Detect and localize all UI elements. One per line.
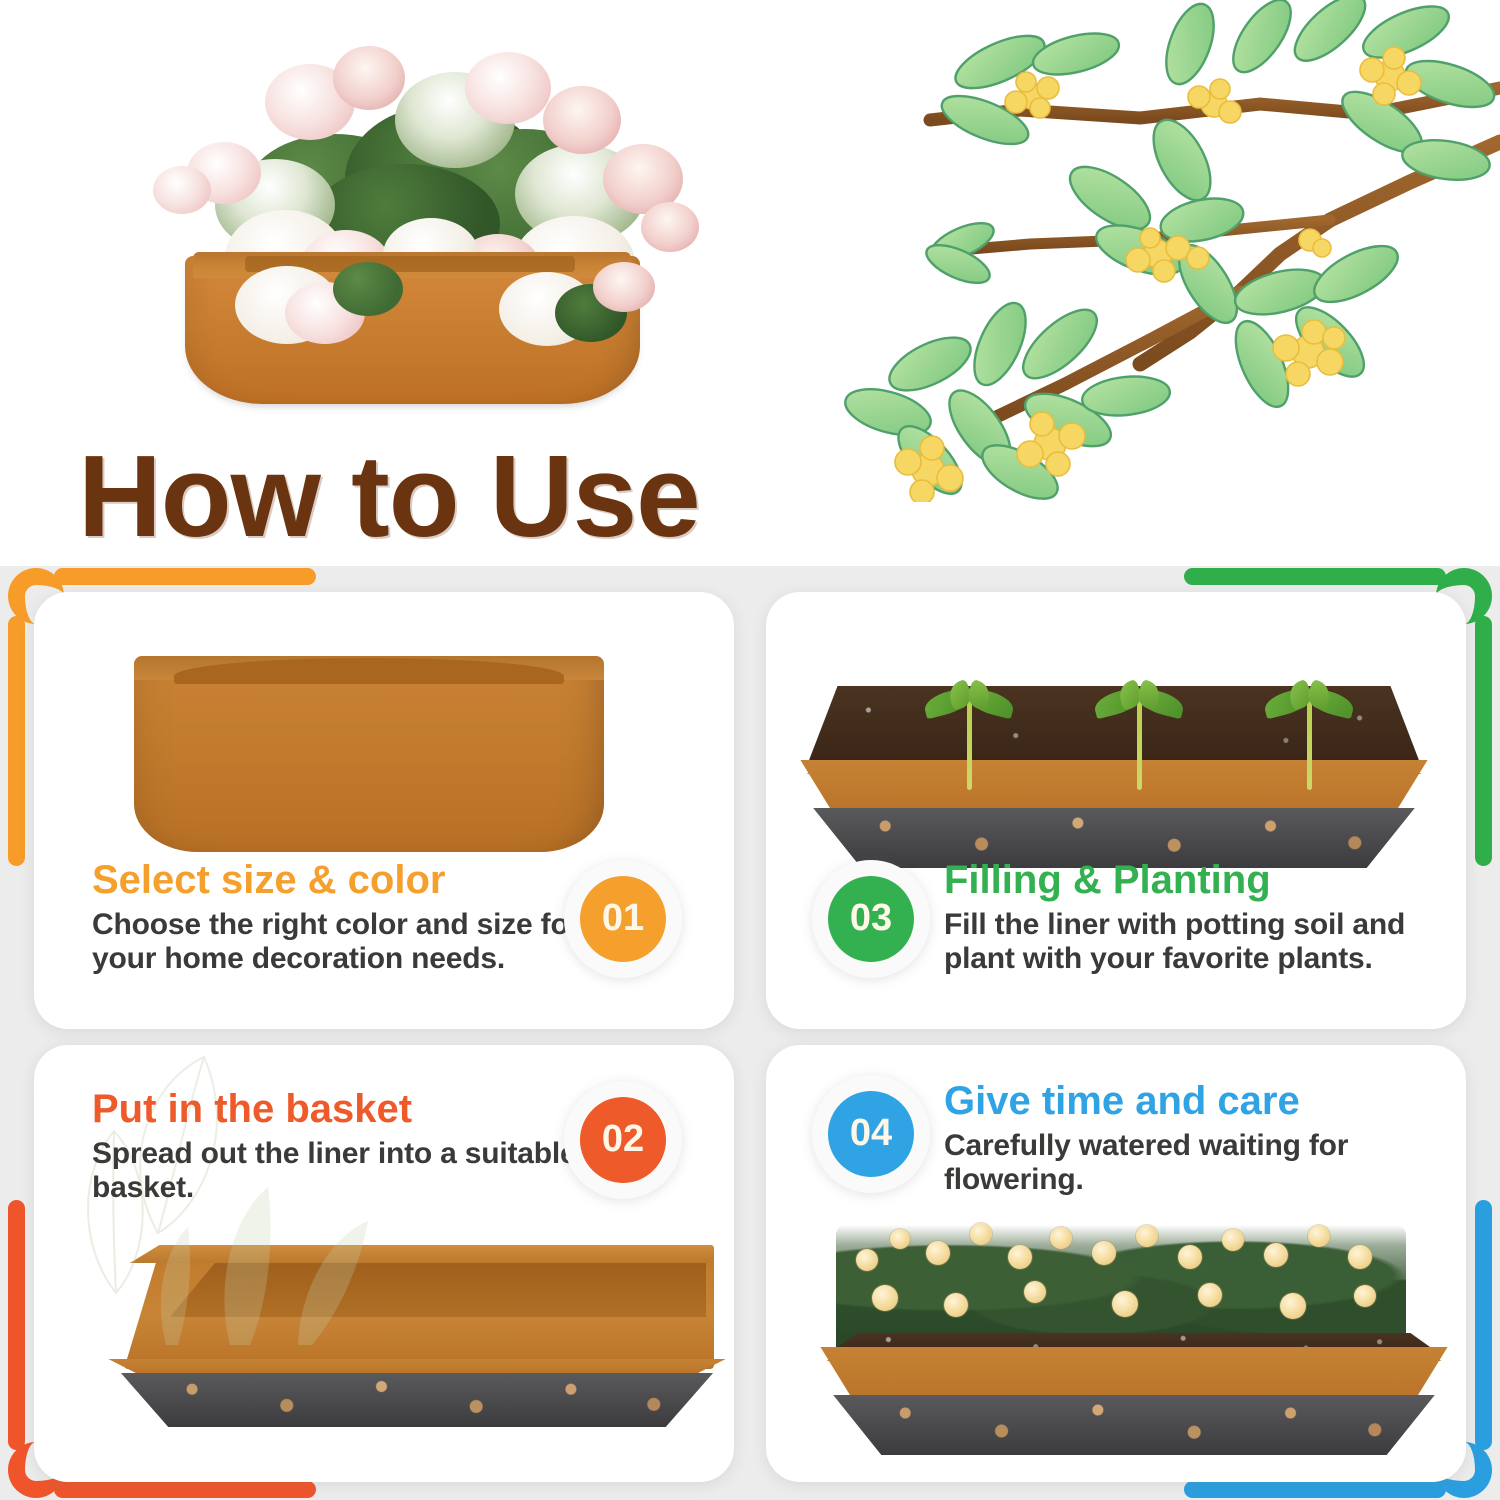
step-04-heading: Give time and care [944, 1081, 1444, 1123]
steps-grid: Select size & color Choose the right col… [0, 566, 1500, 1500]
step-card-04[interactable]: Give time and care Carefully watered wai… [766, 1045, 1466, 1482]
step-02-body: Spread out the liner into a suitable bas… [92, 1137, 612, 1205]
step-01-image [134, 648, 604, 848]
step-02-image [74, 1241, 734, 1441]
step-02-number: 02 [580, 1097, 666, 1183]
step-03-heading: Filling & Planting [944, 860, 1444, 902]
step-04-text: Give time and care Carefully watered wai… [944, 1081, 1444, 1197]
step-02-heading: Put in the basket [92, 1089, 612, 1131]
osmanthus-branch-icon [810, 0, 1500, 502]
step-04-number-badge: 04 [812, 1075, 930, 1193]
hero-section: How to Use [0, 0, 1500, 566]
step-03-number: 03 [828, 876, 914, 962]
step-03-image [784, 688, 1444, 878]
step-01-number-badge: 01 [564, 860, 682, 978]
step-01-number: 01 [580, 876, 666, 962]
step-01-text: Select size & color Choose the right col… [92, 860, 612, 976]
step-01-heading: Select size & color [92, 860, 612, 902]
step-02-number-badge: 02 [564, 1081, 682, 1199]
step-02-text: Put in the basket Spread out the liner i… [92, 1089, 612, 1205]
step-04-number: 04 [828, 1091, 914, 1177]
step-03-text: Filling & Planting Fill the liner with p… [944, 860, 1444, 976]
step-01-body: Choose the right color and size for your… [92, 908, 612, 976]
step-card-03[interactable]: Filling & Planting Fill the liner with p… [766, 592, 1466, 1029]
page-title: How to Use [78, 438, 700, 554]
step-card-02[interactable]: Put in the basket Spread out the liner i… [34, 1045, 734, 1482]
hero-planter-image [95, 0, 715, 414]
step-03-body: Fill the liner with potting soil and pla… [944, 908, 1444, 976]
step-03-number-badge: 03 [812, 860, 930, 978]
step-04-image [794, 1215, 1454, 1455]
step-card-01[interactable]: Select size & color Choose the right col… [34, 592, 734, 1029]
step-04-body: Carefully watered waiting for flowering. [944, 1129, 1444, 1197]
